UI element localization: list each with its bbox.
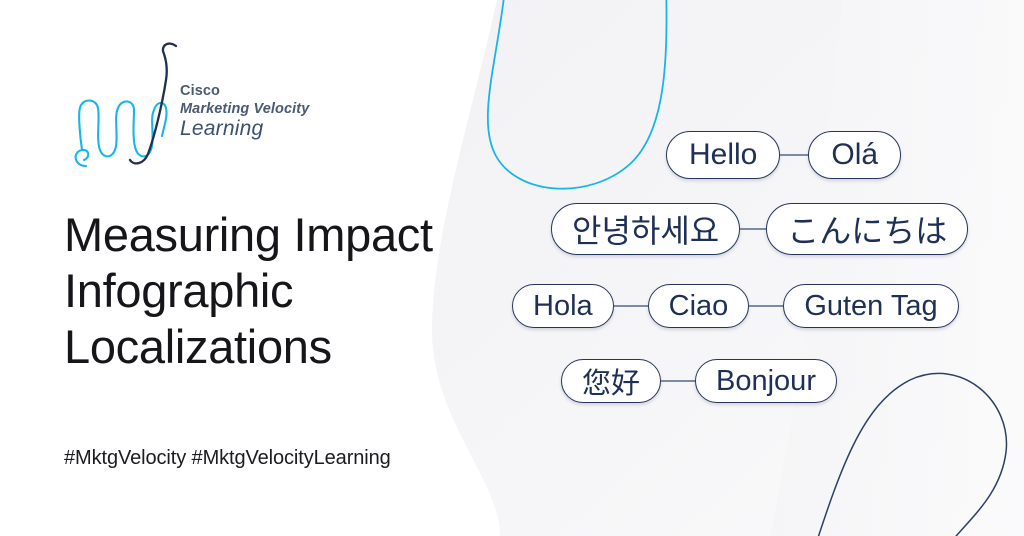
greeting-bubble-bonjour[interactable]: Bonjour: [695, 359, 837, 403]
greeting-row-4: 您好 Bonjour: [561, 359, 837, 403]
greeting-bubble-annyeonghaseyo[interactable]: 안녕하세요: [551, 203, 740, 255]
bubble-connector: [749, 305, 783, 307]
greeting-bubble-ninhao[interactable]: 您好: [561, 359, 661, 403]
greeting-bubble-ciao[interactable]: Ciao: [648, 284, 750, 328]
greeting-row-1: Hello Olá: [666, 131, 901, 179]
greeting-bubble-hola[interactable]: Hola: [512, 284, 614, 328]
greeting-row-2: 안녕하세요 こんにちは: [551, 203, 968, 255]
bubble-connector: [780, 154, 808, 156]
greeting-bubble-guten-tag[interactable]: Guten Tag: [783, 284, 958, 328]
greeting-bubble-hello[interactable]: Hello: [666, 131, 780, 179]
bubble-connector: [740, 228, 766, 230]
greeting-bubble-konnichiwa[interactable]: こんにちは: [766, 203, 968, 255]
infographic-canvas: Cisco Marketing Velocity Learning Measur…: [0, 0, 1024, 536]
greeting-row-3: Hola Ciao Guten Tag: [512, 284, 959, 328]
greeting-bubble-ola[interactable]: Olá: [808, 131, 901, 179]
bubble-connector: [661, 380, 695, 382]
greeting-bubble-graphic: Hello Olá 안녕하세요 こんにちは Hola Ciao Guten Ta…: [0, 0, 1024, 536]
bubble-connector: [614, 305, 648, 307]
